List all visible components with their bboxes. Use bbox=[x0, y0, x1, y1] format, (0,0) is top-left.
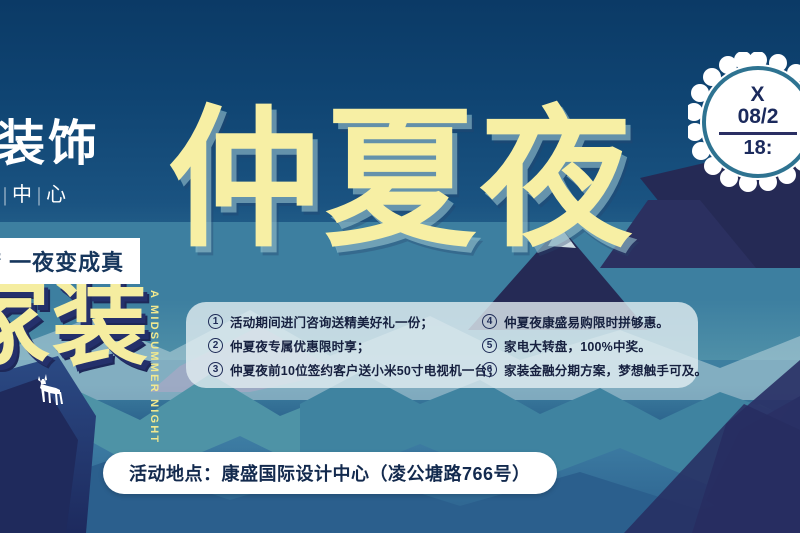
badge-top-mark: X bbox=[750, 84, 765, 105]
item-number: 3 bbox=[208, 362, 223, 377]
item-text: 活动期间进门咨询送精美好礼一份； bbox=[230, 312, 433, 331]
brand-subtitle-char-4: 心 bbox=[46, 184, 68, 206]
brand-logo: 盛装饰 設|計|中|心 bbox=[0, 118, 194, 207]
badge-divider bbox=[719, 132, 797, 135]
list-item: 6 家装金融分期方案，梦想触手可及。 bbox=[482, 360, 692, 379]
deer-icon bbox=[26, 372, 70, 418]
brand-tagline: 装梦 一夜变成真 bbox=[0, 238, 140, 284]
english-subtitle: A MIDSUMMER NIGHT bbox=[148, 290, 160, 444]
brand-subtitle-char-3: 中 bbox=[12, 184, 34, 206]
page-title: 仲夏夜 bbox=[168, 104, 636, 256]
badge-date: 08/2 bbox=[738, 105, 779, 129]
item-number: 5 bbox=[482, 338, 497, 353]
event-address: 活动地点：康盛国际设计中心（凌公塘路766号） bbox=[103, 452, 557, 494]
item-text: 仲夏夜康盛易购限时拼够惠。 bbox=[504, 312, 669, 331]
item-number: 4 bbox=[482, 314, 497, 329]
promotions-panel: 1 活动期间进门咨询送精美好礼一份； 2 仲夏夜专属优惠限时享； 3 仲夏夜前1… bbox=[186, 302, 698, 388]
item-text: 家装金融分期方案，梦想触手可及。 bbox=[504, 360, 707, 379]
brand-name: 盛装饰 bbox=[0, 118, 194, 169]
list-item: 2 仲夏夜专属优惠限时享； bbox=[208, 336, 476, 355]
badge-time: 18: bbox=[744, 137, 773, 160]
promotions-column-left: 1 活动期间进门咨询送精美好礼一份； 2 仲夏夜专属优惠限时享； 3 仲夏夜前1… bbox=[208, 312, 476, 379]
brand-subtitle: 設|計|中|心 bbox=[0, 178, 194, 207]
item-number: 1 bbox=[208, 314, 223, 329]
date-badge: X 08/2 18: bbox=[688, 52, 800, 192]
item-text: 仲夏夜专属优惠限时享； bbox=[230, 336, 370, 355]
list-item: 3 仲夏夜前10位签约客户送小米50寸电视机一台； bbox=[208, 360, 476, 379]
list-item: 1 活动期间进门咨询送精美好礼一份； bbox=[208, 312, 476, 331]
item-text: 仲夏夜前10位签约客户送小米50寸电视机一台； bbox=[230, 360, 500, 379]
category-headline: 家装 bbox=[0, 276, 150, 372]
list-item: 5 家电大转盘，100%中奖。 bbox=[482, 336, 692, 355]
promotional-poster: 家装 盛装饰 設|計|中|心 装梦 一夜变成真 仲夏夜 A MIDSUMMER … bbox=[0, 0, 800, 533]
item-text: 家电大转盘，100%中奖。 bbox=[504, 336, 651, 355]
list-item: 4 仲夏夜康盛易购限时拼够惠。 bbox=[482, 312, 692, 331]
item-number: 2 bbox=[208, 338, 223, 353]
promotions-column-right: 4 仲夏夜康盛易购限时拼够惠。 5 家电大转盘，100%中奖。 6 家装金融分期… bbox=[482, 312, 692, 379]
item-number: 6 bbox=[482, 362, 497, 377]
divider: | bbox=[3, 184, 9, 206]
divider: | bbox=[37, 184, 43, 206]
